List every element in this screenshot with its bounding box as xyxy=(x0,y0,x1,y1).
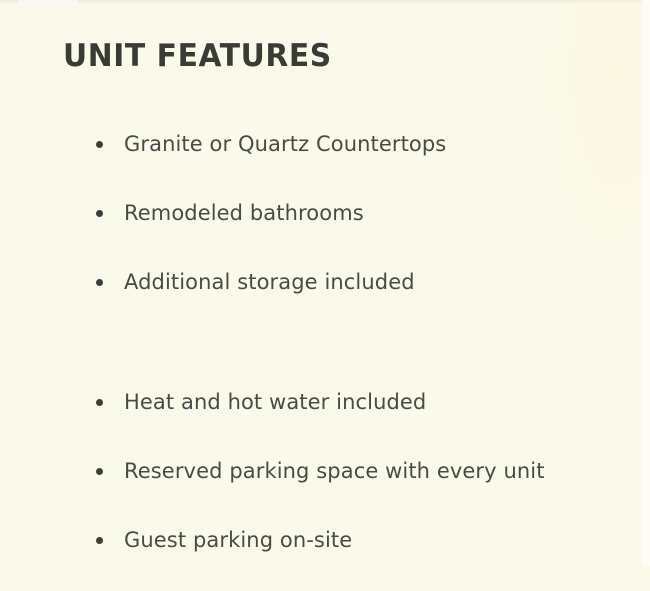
bullet-dot-icon xyxy=(96,279,103,286)
slide-canvas: UNIT FEATURES Granite or Quartz Countert… xyxy=(0,0,650,566)
list-item-label: Remodeled bathrooms xyxy=(124,201,364,225)
list-item: Remodeled bathrooms xyxy=(88,195,556,231)
page-title: UNIT FEATURES xyxy=(63,39,332,73)
bullet-dot-icon xyxy=(96,537,103,544)
unit-features-list: Granite or Quartz Countertops Remodeled … xyxy=(88,126,588,591)
list-item-label: Heat and hot water included xyxy=(124,390,426,414)
bullet-dot-icon xyxy=(96,210,103,217)
bullet-dot-icon xyxy=(96,468,103,475)
list-item-label: Guest parking on-site xyxy=(124,528,352,552)
list-item: Guest parking on-site xyxy=(88,522,556,558)
list-item: Heat and hot water included xyxy=(88,384,556,420)
bullet-dot-icon xyxy=(96,399,103,406)
slide-content: UNIT FEATURES Granite or Quartz Countert… xyxy=(0,0,650,566)
list-item-label: Granite or Quartz Countertops xyxy=(124,132,446,156)
list-item: Reserved parking space with every unit xyxy=(88,453,556,489)
list-item: Granite or Quartz Countertops xyxy=(88,126,556,162)
list-item-label: Reserved parking space with every unit xyxy=(124,459,545,483)
list-item: Additional storage included xyxy=(88,264,556,300)
list-item-label: Additional storage included xyxy=(124,270,415,294)
bullet-dot-icon xyxy=(96,141,103,148)
